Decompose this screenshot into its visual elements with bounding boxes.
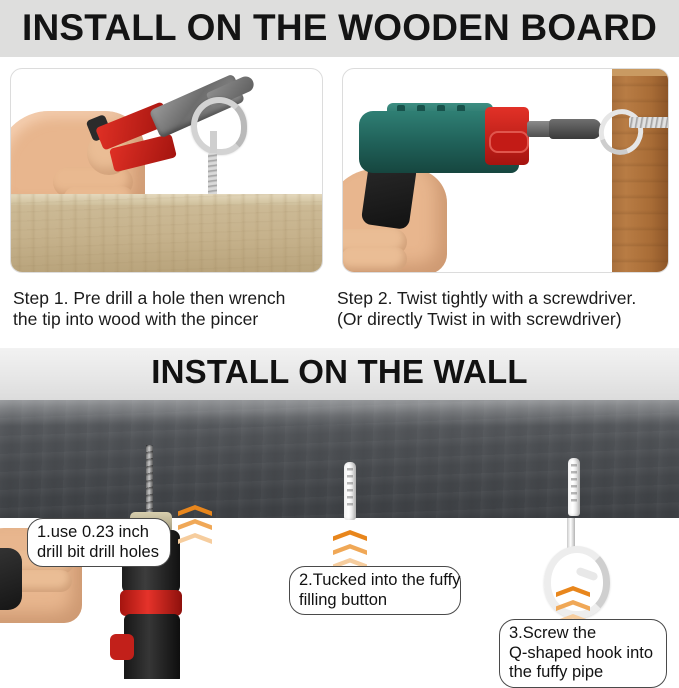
callout-1-line1: 1.use 0.23 inch: [37, 523, 161, 543]
chevron-up-arrows-icon: [178, 505, 212, 547]
wooden-board-image: [10, 194, 323, 272]
callout-step-1: 1.use 0.23 inch drill bit drill holes: [27, 518, 171, 567]
drill-bit-holder-icon: [549, 119, 601, 139]
callout-3-line3: the fuffy pipe: [509, 663, 657, 683]
step-captions: Step 1. Pre drill a hole then wrench the…: [0, 288, 679, 344]
wood-plank-edge: [612, 69, 668, 76]
chevron-up-icon: [178, 533, 212, 544]
drill-bit-icon: [146, 445, 153, 520]
screw-hook-icon: [595, 107, 641, 151]
screw-thread-icon: [629, 117, 669, 128]
anchor-plug-shape: [568, 458, 580, 516]
callout-1-line2: drill bit drill holes: [37, 543, 161, 563]
callout-2-line2: filling button: [299, 591, 451, 611]
drill-clutch-collar: [120, 590, 182, 616]
chevron-up-icon: [333, 530, 367, 541]
callout-3-line1: 3.Screw the: [509, 624, 657, 644]
callout-2-line1: 2.Tucked into the fuffy: [299, 571, 451, 591]
step1-caption-line2: the tip into wood with the pincer: [13, 309, 333, 330]
drill-trigger: [110, 634, 134, 660]
step2-caption-line1: Step 2. Twist tightly with a screwdriver…: [337, 288, 675, 309]
step1-photo-panel: [10, 68, 323, 273]
wall-header-band: INSTALL ON THE WALL: [0, 348, 679, 400]
finger-shape: [342, 247, 407, 271]
wooden-board-header-title: INSTALL ON THE WOODEN BOARD: [22, 7, 657, 49]
step2-caption-line2: (Or directly Twist in with screwdriver): [337, 309, 675, 330]
wall-header-title: INSTALL ON THE WALL: [0, 353, 679, 391]
step2-photo-panel: [342, 68, 669, 273]
wood-grain-texture: [10, 194, 323, 272]
drill-battery-icon: [0, 548, 22, 610]
wooden-board-photo-row: [0, 57, 679, 285]
wooden-board-header-band: INSTALL ON THE WOODEN BOARD: [0, 0, 679, 57]
callout-step-3: 3.Screw the Q-shaped hook into the fuffy…: [499, 619, 667, 688]
wood-grain-texture: [612, 69, 668, 273]
anchor-plug-shape: [344, 462, 356, 520]
chevron-up-icon: [556, 600, 590, 611]
step2-caption: Step 2. Twist tightly with a screwdriver…: [337, 288, 675, 330]
chevron-up-icon: [178, 519, 212, 530]
chevron-up-icon: [556, 586, 590, 597]
step1-caption: Step 1. Pre drill a hole then wrench the…: [13, 288, 333, 330]
callout-3-line2: Q-shaped hook into: [509, 644, 657, 664]
chevron-up-icon: [333, 544, 367, 555]
chevron-up-icon: [178, 505, 212, 516]
step1-caption-line1: Step 1. Pre drill a hole then wrench: [13, 288, 333, 309]
callout-step-2: 2.Tucked into the fuffy filling button: [289, 566, 461, 615]
wood-plank-image: [612, 69, 668, 273]
wall-light-sheen: [0, 400, 679, 426]
product-instruction-infographic: INSTALL ON THE WOODEN BOARD: [0, 0, 679, 679]
hook-ring-shape: [191, 97, 247, 155]
drill-dial: [489, 131, 529, 153]
